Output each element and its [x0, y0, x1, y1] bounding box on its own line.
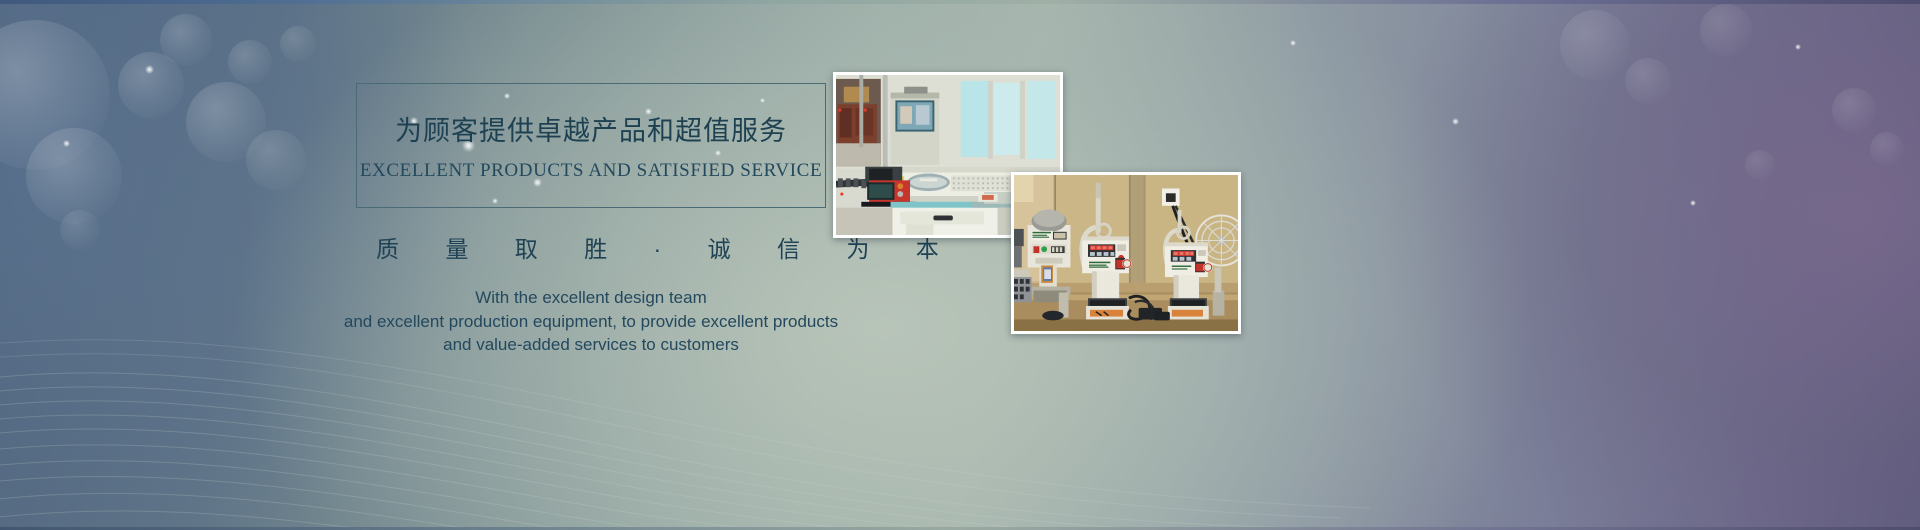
- sparkle-dot: [1290, 40, 1296, 46]
- bokeh-circle: [118, 52, 184, 118]
- bokeh-circle: [1745, 150, 1775, 180]
- headline-english: EXCELLENT PRODUCTS AND SATISFIED SERVICE: [360, 160, 822, 182]
- sparkle-dot: [145, 65, 154, 74]
- promotional-banner: 为顾客提供卓越产品和超值服务 EXCELLENT PRODUCTS AND SA…: [0, 0, 1920, 530]
- top-highlight-edge: [0, 0, 1920, 4]
- press-machines-photo-image: [1014, 175, 1238, 331]
- bokeh-circle: [228, 40, 272, 84]
- bokeh-circle: [1625, 58, 1671, 104]
- headline-chinese: 为顾客提供卓越产品和超值服务: [395, 109, 787, 148]
- sparkle-dot: [1690, 200, 1696, 206]
- bokeh-circle: [1870, 132, 1904, 166]
- description-paragraph: With the excellent design team and excel…: [326, 286, 856, 357]
- bokeh-circle: [1700, 4, 1752, 56]
- bokeh-circle: [1832, 88, 1876, 132]
- description-line-3: and value-added services to customers: [326, 333, 856, 357]
- banner-text-block: 为顾客提供卓越产品和超值服务 EXCELLENT PRODUCTS AND SA…: [356, 83, 826, 357]
- bokeh-circle: [60, 210, 100, 250]
- bokeh-circle: [26, 128, 122, 224]
- bokeh-circle: [1560, 10, 1630, 80]
- sparkle-dot: [63, 140, 70, 147]
- bokeh-circle: [160, 14, 212, 66]
- description-line-2: and excellent production equipment, to p…: [326, 310, 856, 334]
- bokeh-circle: [0, 20, 110, 170]
- decorative-wave-lines: [0, 260, 1920, 530]
- description-line-1: With the excellent design team: [326, 286, 856, 310]
- bokeh-circle: [186, 82, 266, 162]
- press-machines-photo: [1011, 172, 1241, 334]
- headline-box: 为顾客提供卓越产品和超值服务 EXCELLENT PRODUCTS AND SA…: [356, 83, 826, 208]
- slogan-chinese: 质 量 取 胜 · 诚 信 为 本: [356, 230, 826, 264]
- bokeh-circle: [246, 130, 306, 190]
- bokeh-circle: [280, 26, 316, 62]
- sparkle-dot: [1795, 44, 1801, 50]
- sparkle-dot: [1452, 118, 1459, 125]
